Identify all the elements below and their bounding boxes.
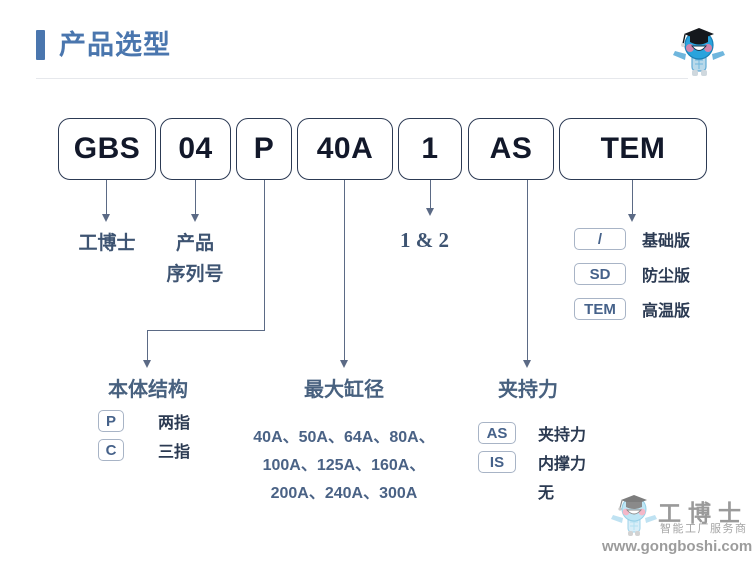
connector-clamp	[527, 180, 528, 362]
page-title: 产品选型	[59, 32, 171, 59]
list-item[interactable]: SD 防尘版	[574, 263, 690, 285]
option-desc: 夹持力	[538, 421, 586, 445]
code-box-fingers[interactable]: 1	[398, 118, 462, 180]
graduate-mascot-icon	[668, 24, 730, 82]
watermark-logo: 工博士 智能工厂服务商 www.gongboshi.com	[596, 492, 746, 562]
option-code-chip[interactable]: AS	[478, 422, 516, 444]
option-code-chip[interactable]: SD	[574, 263, 626, 285]
label-series-line1: 产品	[152, 228, 238, 255]
connector-bore	[344, 180, 345, 362]
arrow-series	[191, 214, 199, 222]
option-desc: 防尘版	[642, 262, 690, 286]
code-box-structure[interactable]: P	[236, 118, 292, 180]
section-title-body-structure: 本体结构	[93, 378, 203, 403]
watermark-url: www.gongboshi.com	[602, 538, 752, 555]
page-header: 产品选型	[36, 30, 171, 60]
bore-values-line-2: 100A、125A、160A、	[234, 452, 454, 480]
arrow-brand	[102, 214, 110, 222]
option-code-chip	[478, 480, 516, 502]
section-title-clamp-force: 夹持力	[483, 378, 573, 403]
code-box-clamp[interactable]: AS	[468, 118, 554, 180]
connector-structure-across	[147, 330, 265, 331]
graduate-mascot-icon	[608, 492, 660, 540]
option-desc: 两指	[158, 409, 190, 433]
arrow-fingers	[426, 208, 434, 216]
list-item[interactable]: TEM 高温版	[574, 298, 690, 320]
arrow-bore	[340, 360, 348, 368]
list-item[interactable]: C 三指	[98, 439, 190, 461]
product-selection-diagram: 产品选型	[0, 0, 752, 566]
option-list-version: / 基础版 SD 防尘版 TEM 高温版	[574, 228, 690, 327]
option-code-chip[interactable]: TEM	[574, 298, 626, 320]
arrow-structure	[143, 360, 151, 368]
option-list-body-structure: P 两指 C 三指	[98, 410, 190, 468]
title-accent-bar	[36, 30, 45, 60]
list-item[interactable]: AS 夹持力	[478, 422, 586, 444]
watermark-tagline: 智能工厂服务商	[660, 520, 748, 536]
option-desc: 高温版	[642, 297, 690, 321]
list-item[interactable]: / 基础版	[574, 228, 690, 250]
option-desc: 无	[538, 479, 554, 503]
label-series-line2: 序列号	[152, 259, 238, 286]
option-code-chip[interactable]: C	[98, 439, 124, 461]
connector-structure-drop	[147, 330, 148, 362]
bore-values-line-3: 200A、240A、300A	[234, 480, 454, 508]
connector-series	[195, 180, 196, 216]
code-box-brand[interactable]: GBS	[58, 118, 156, 180]
connector-fingers	[430, 180, 431, 210]
list-item[interactable]: 无	[478, 480, 586, 502]
list-item[interactable]: IS 内撑力	[478, 451, 586, 473]
bore-values-line-1: 40A、50A、64A、80A、	[234, 424, 454, 452]
code-box-series[interactable]: 04	[160, 118, 231, 180]
option-desc: 基础版	[642, 227, 690, 251]
option-desc: 内撑力	[538, 450, 586, 474]
connector-version	[632, 180, 633, 216]
arrow-version	[628, 214, 636, 222]
code-box-bore[interactable]: 40A	[297, 118, 393, 180]
header-divider	[36, 78, 688, 79]
label-fingers-count: 1 & 2	[400, 228, 449, 253]
option-code-chip[interactable]: IS	[478, 451, 516, 473]
option-code-chip[interactable]: P	[98, 410, 124, 432]
code-box-version[interactable]: TEM	[559, 118, 707, 180]
option-list-clamp-force: AS 夹持力 IS 内撑力 无	[478, 422, 586, 509]
bore-value-list: 40A、50A、64A、80A、 100A、125A、160A、 200A、24…	[234, 424, 454, 508]
connector-brand	[106, 180, 107, 216]
section-title-max-bore: 最大缸径	[288, 378, 400, 403]
option-desc: 三指	[158, 438, 190, 462]
list-item[interactable]: P 两指	[98, 410, 190, 432]
option-code-chip[interactable]: /	[574, 228, 626, 250]
connector-structure-down	[264, 180, 265, 330]
arrow-clamp	[523, 360, 531, 368]
label-brand: 工博士	[62, 228, 152, 255]
